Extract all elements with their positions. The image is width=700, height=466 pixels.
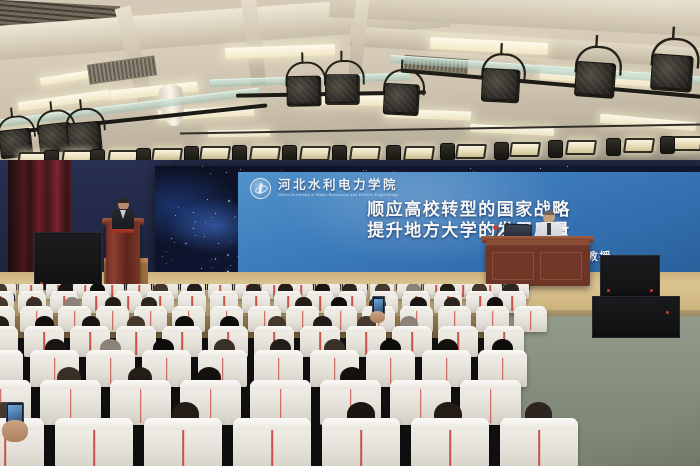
star-speck [226, 172, 227, 173]
audience-chair-headrest [51, 291, 77, 295]
audience-chair-headrest [251, 380, 310, 389]
audience-chair-headrest [21, 306, 52, 311]
audience-chair-headrest [111, 380, 170, 389]
star-speck [567, 166, 568, 167]
audience-chair-headrest [249, 306, 280, 311]
audience-chair-headrest [181, 380, 240, 389]
audience-chair-headrest [243, 291, 269, 295]
slide-title-line2: 提升地方大学的发展质量 [238, 221, 700, 242]
star-speck [281, 170, 282, 171]
audience-chair-headrest [301, 326, 339, 332]
star-speck [215, 213, 216, 214]
audience-seating [0, 284, 700, 466]
slide-title: 顺应高校转型的国家战略 提升地方大学的发展质量 [238, 200, 700, 242]
audience-chair-headrest [321, 380, 380, 389]
desk-front-panel [492, 252, 534, 280]
university-emblem-icon [250, 178, 271, 199]
star-speck [228, 200, 230, 202]
star-speck [162, 256, 163, 257]
audience-chair-headrest [323, 418, 399, 430]
star-speck [366, 170, 367, 171]
audience-chair-headrest [0, 326, 17, 332]
stage-wash-light [199, 146, 231, 161]
audience-chair-headrest [0, 350, 22, 358]
star-speck [175, 215, 176, 216]
slide-title-line1: 顺应高校转型的国家战略 [238, 200, 700, 221]
audience-chair-headrest [147, 291, 173, 295]
star-speck [203, 233, 204, 234]
stage-wash-light [509, 142, 541, 157]
stage-wash-light [455, 144, 487, 159]
audience-chair-headrest [71, 326, 109, 332]
audience-chair-headrest [117, 326, 155, 332]
audience-chair-headrest [485, 326, 523, 332]
star-speck [195, 235, 196, 236]
university-name-cn: 河北水利电力学院 [278, 179, 398, 192]
audience-chair-headrest [255, 350, 302, 358]
star-speck [166, 263, 168, 265]
audience-chair-headrest [163, 326, 201, 332]
star-speck [212, 217, 213, 218]
stage-wash-light [623, 138, 655, 153]
stage-wash-light [565, 140, 597, 155]
audience-chair-headrest [339, 291, 365, 295]
star-speck [470, 168, 471, 169]
par-can-light [660, 136, 675, 154]
star-speck [201, 268, 202, 269]
audience-chair-headrest [83, 291, 109, 295]
star-speck [185, 243, 187, 245]
audience-chair-headrest [467, 291, 493, 295]
star-speck [171, 260, 172, 261]
star-speck [215, 258, 217, 260]
audience-chair-headrest [173, 306, 204, 311]
star-speck [240, 169, 241, 170]
audience-chair-headrest [515, 306, 546, 311]
audience-chair-headrest [135, 306, 166, 311]
star-speck [193, 228, 195, 230]
star-speck [234, 217, 235, 218]
stage-wash-light [403, 146, 435, 161]
audience-chair-headrest [115, 291, 141, 295]
presenter-tie [547, 223, 551, 235]
audience-chair-headrest [97, 306, 128, 311]
stage-wash-light [349, 146, 381, 161]
audience-chair-headrest [501, 418, 577, 430]
audience-chair-headrest [435, 291, 461, 295]
audience-chair-headrest [461, 380, 520, 389]
audience-chair-headrest [209, 326, 247, 332]
audience-chair-headrest [41, 380, 100, 389]
star-speck [207, 199, 208, 200]
audience-hand-holding-phone [370, 311, 385, 323]
stage-wash-light [671, 136, 700, 151]
par-can-light [440, 143, 455, 161]
audience-chair-headrest [31, 350, 78, 358]
audience-chair-headrest [0, 306, 14, 311]
audience-chair-headrest [275, 291, 301, 295]
audience-chair-headrest [412, 418, 488, 430]
pa-speaker-cabinet-left [34, 232, 102, 290]
star-speck [230, 265, 231, 266]
star-speck [202, 166, 203, 167]
stage-wash-light [299, 146, 331, 161]
audience-chair-headrest [391, 380, 450, 389]
audience-chair-headrest [25, 326, 63, 332]
star-speck [210, 173, 211, 174]
stage-wash-light [249, 146, 281, 161]
audience-chair-headrest [199, 350, 246, 358]
lecture-hall-photo: 河北水利电力学院 Hebei University of Water Resou… [0, 0, 700, 466]
par-can-light [548, 140, 563, 158]
audience-chair-headrest [311, 350, 358, 358]
star-speck [171, 238, 172, 239]
slide-header: 河北水利电力学院 Hebei University of Water Resou… [250, 178, 398, 199]
star-speck [205, 222, 206, 223]
audience-chair-headrest [234, 418, 310, 430]
star-speck [195, 221, 197, 223]
desk-microphone-head [493, 225, 498, 230]
audience-chair-headrest [307, 291, 333, 295]
audience-chair-headrest [393, 326, 431, 332]
audience-chair-headrest [211, 291, 237, 295]
audience-chair-headrest [423, 350, 470, 358]
star-speck [174, 242, 175, 243]
standing-presenter [112, 198, 134, 228]
star-speck [227, 254, 229, 256]
par-can-light [606, 138, 621, 156]
audience-chair-headrest [401, 306, 432, 311]
audience-chair-headrest [143, 350, 190, 358]
audience-chair-headrest [439, 306, 470, 311]
audience-chair-headrest [0, 380, 30, 389]
star-speck [204, 236, 205, 237]
audience-chair-headrest [347, 326, 385, 332]
audience-chair-headrest [19, 291, 45, 295]
university-name-en: Hebei University of Water Resources and … [278, 194, 398, 198]
audience-chair-headrest [87, 350, 134, 358]
audience-chair-headrest [367, 350, 414, 358]
star-speck [230, 241, 231, 242]
par-can-light [494, 142, 509, 160]
audience-hand-holding-phone [2, 420, 28, 442]
star-speck [178, 207, 179, 208]
audience-chair-headrest [477, 306, 508, 311]
audience-chair-headrest [179, 291, 205, 295]
star-speck [211, 267, 212, 268]
audience-chair-headrest [255, 326, 293, 332]
audience-chair-headrest [371, 291, 397, 295]
audience-chair-headrest [439, 326, 477, 332]
star-speck [363, 170, 364, 171]
audience-chair-headrest [56, 418, 132, 430]
audience-chair-headrest [145, 418, 221, 430]
audience-chair-headrest [287, 306, 318, 311]
star-speck [193, 212, 194, 213]
star-speck [211, 259, 212, 260]
audience-chair-headrest [59, 306, 90, 311]
star-speck [166, 251, 167, 252]
desk-front-panel [540, 252, 582, 280]
audience-chair-headrest [403, 291, 429, 295]
audience-chair-headrest [325, 306, 356, 311]
audience-chair-headrest [0, 291, 13, 295]
audience-chair-headrest [211, 306, 242, 311]
star-speck [540, 168, 541, 169]
audience-chair-headrest [499, 291, 525, 295]
audience-chair-headrest [479, 350, 526, 358]
star-speck [218, 243, 219, 244]
